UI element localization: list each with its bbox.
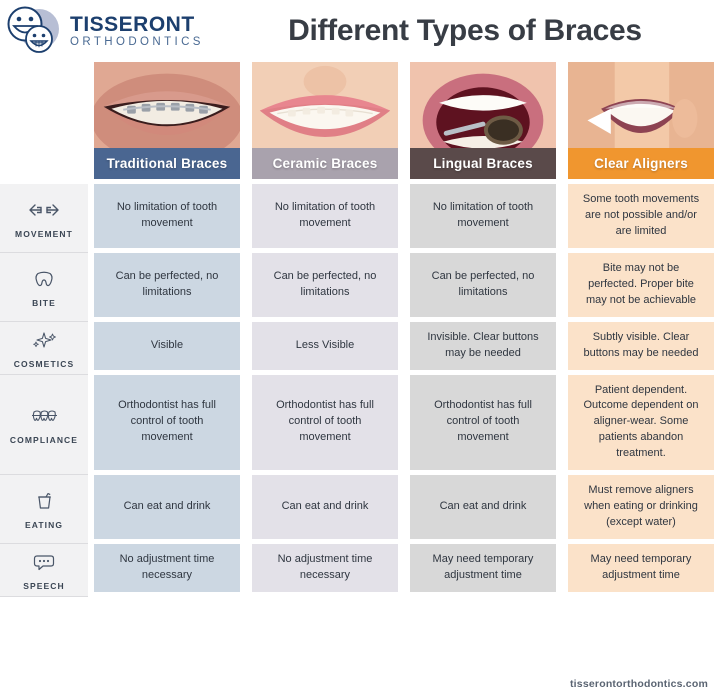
category-label: SPEECH [23, 581, 65, 591]
cell-speech-lingual: May need temporary adjustment time [410, 544, 556, 592]
cell-bite-lingual: Can be perfected, no limitations [410, 253, 556, 317]
brand-subtitle: ORTHODONTICS [70, 37, 204, 49]
category-movement: MOVEMENT [0, 184, 88, 253]
left-right-arrows-icon [27, 197, 61, 223]
comparison-table: Traditional Braces Ceramic Braces [0, 62, 720, 597]
table-row: BITE Can be perfected, no limitations Ca… [0, 253, 720, 322]
cell-eating-traditional: Can eat and drink [94, 475, 240, 539]
category-cosmetics: COSMETICS [0, 322, 88, 375]
cell-cosmetics-lingual: Invisible. Clear buttons may be needed [410, 322, 556, 370]
cell-compliance-traditional: Orthodontist has full control of tooth m… [94, 375, 240, 471]
category-speech: SPEECH [0, 544, 88, 597]
corner-spacer [0, 62, 88, 184]
cell-movement-aligners: Some tooth movements are not possible an… [568, 184, 714, 248]
braces-teeth-icon [27, 403, 61, 429]
cell-movement-lingual: No limitation of tooth movement [410, 184, 556, 248]
cell-bite-ceramic: Can be perfected, no limitations [252, 253, 398, 317]
cell-eating-aligners: Must remove aligners when eating or drin… [568, 475, 714, 539]
page-header: TISSERONT ORTHODONTICS Different Types o… [0, 0, 720, 62]
column-label-lingual: Lingual Braces [410, 148, 556, 179]
cell-movement-traditional: No limitation of tooth movement [94, 184, 240, 248]
cell-bite-aligners: Bite may not be perfected. Proper bite m… [568, 253, 714, 317]
cell-speech-traditional: No adjustment time necessary [94, 544, 240, 592]
cell-cosmetics-aligners: Subtly visible. Clear buttons may be nee… [568, 322, 714, 370]
drink-cup-icon [27, 488, 61, 514]
table-row: SPEECH No adjustment time necessary No a… [0, 544, 720, 597]
category-bite: BITE [0, 253, 88, 322]
column-label-traditional: Traditional Braces [94, 148, 240, 179]
cell-cosmetics-ceramic: Less Visible [252, 322, 398, 370]
column-header-aligners[interactable]: Clear Aligners [568, 62, 714, 179]
column-header-ceramic[interactable]: Ceramic Braces [252, 62, 398, 179]
column-label-aligners: Clear Aligners [568, 148, 714, 179]
brand-logo[interactable]: TISSERONT ORTHODONTICS [6, 6, 204, 56]
category-label: COMPLIANCE [10, 435, 78, 445]
column-header-row: Traditional Braces Ceramic Braces [0, 62, 720, 184]
cell-speech-ceramic: No adjustment time necessary [252, 544, 398, 592]
sparkle-icon [27, 327, 61, 353]
cell-compliance-ceramic: Orthodontist has full control of tooth m… [252, 375, 398, 471]
cell-compliance-lingual: Orthodontist has full control of tooth m… [410, 375, 556, 471]
speech-bubble-icon [27, 549, 61, 575]
category-label: COSMETICS [14, 359, 74, 369]
cell-bite-traditional: Can be perfected, no limitations [94, 253, 240, 317]
column-header-lingual[interactable]: Lingual Braces [410, 62, 556, 179]
page-title: Different Types of Braces [204, 14, 706, 48]
category-label: EATING [25, 520, 63, 530]
cell-eating-ceramic: Can eat and drink [252, 475, 398, 539]
column-label-ceramic: Ceramic Braces [252, 148, 398, 179]
category-label: BITE [32, 298, 56, 308]
table-row: EATING Can eat and drink Can eat and dri… [0, 475, 720, 544]
table-row: COSMETICS Visible Less Visible Invisible… [0, 322, 720, 375]
category-compliance: COMPLIANCE [0, 375, 88, 476]
tooth-icon [27, 266, 61, 292]
table-row: MOVEMENT No limitation of tooth movement… [0, 184, 720, 253]
table-row: COMPLIANCE Orthodontist has full control… [0, 375, 720, 476]
column-header-traditional[interactable]: Traditional Braces [94, 62, 240, 179]
brand-name: TISSERONT [70, 14, 204, 35]
cell-cosmetics-traditional: Visible [94, 322, 240, 370]
cell-compliance-aligners: Patient dependent. Outcome dependent on … [568, 375, 714, 471]
footer-website[interactable]: tisserontorthodontics.com [570, 678, 708, 690]
cell-movement-ceramic: No limitation of tooth movement [252, 184, 398, 248]
category-eating: EATING [0, 475, 88, 544]
category-label: MOVEMENT [15, 229, 73, 239]
cell-speech-aligners: May need temporary adjustment time [568, 544, 714, 592]
two-smiley-faces-logo-icon [6, 6, 62, 56]
cell-eating-lingual: Can eat and drink [410, 475, 556, 539]
